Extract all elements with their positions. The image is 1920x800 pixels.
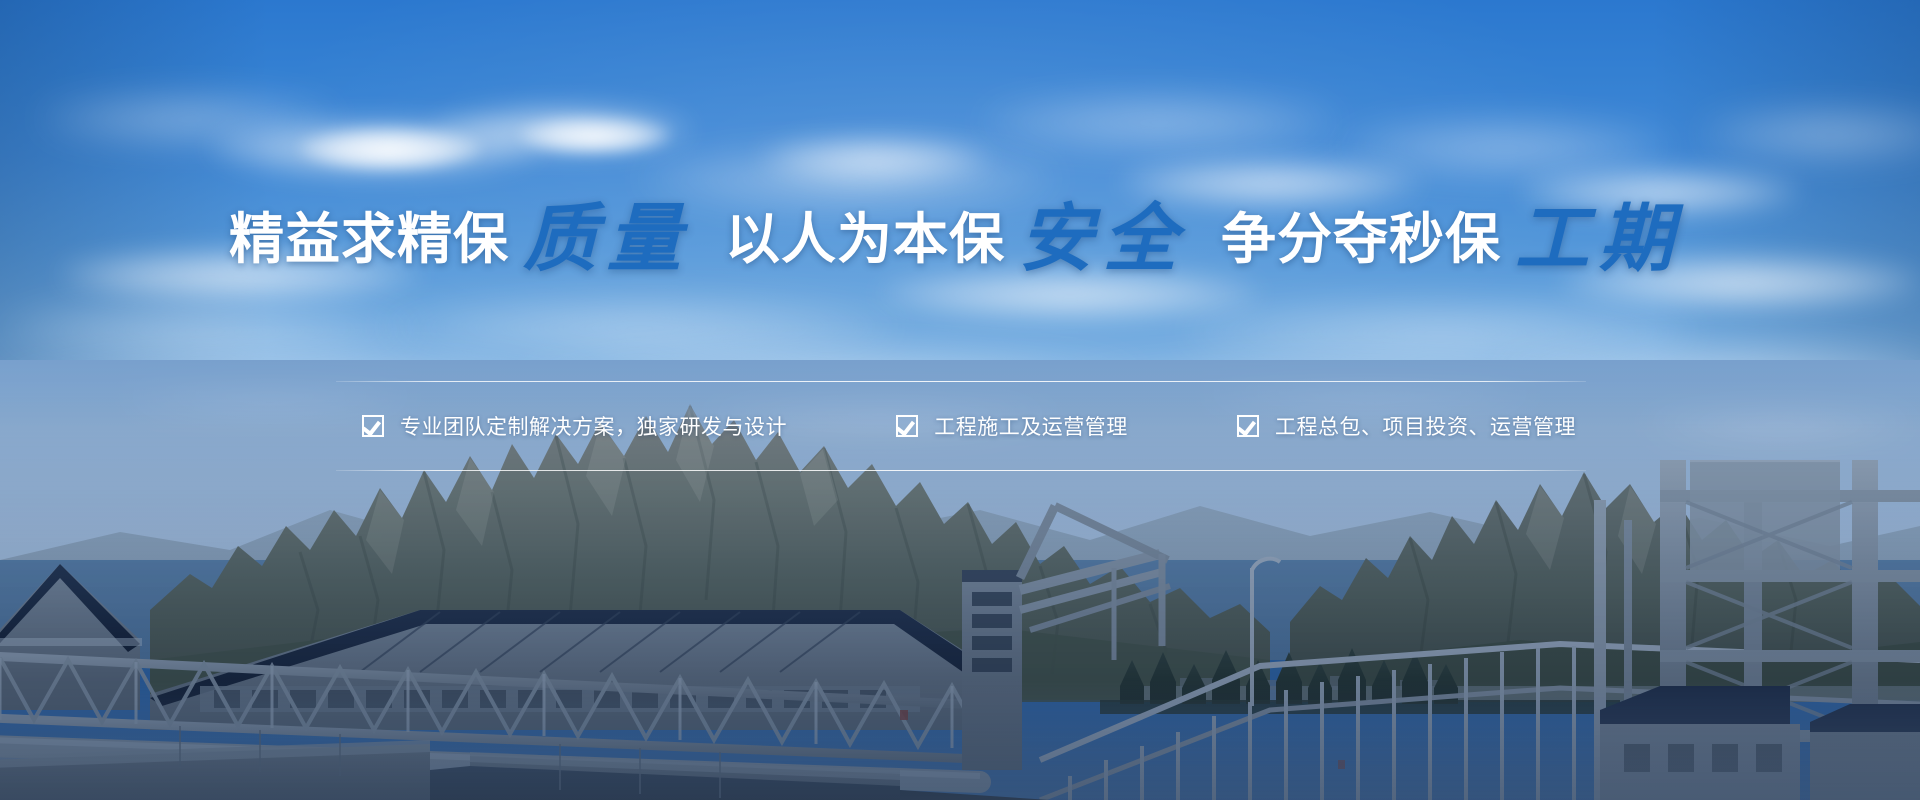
headline-segment-6-calligraphy: 工期 [1501, 196, 1691, 282]
feature-strip: 专业团队定制解决方案，独家研发与设计 工程施工及运营管理 工程总包、项目投资、运… [336, 381, 1586, 471]
feature-item-2: 工程施工及运营管理 [896, 411, 1128, 441]
checkbox-checked-icon [362, 415, 384, 437]
headline: 精益求精保质量以人为本保安全争分夺秒保工期 [0, 196, 1920, 270]
feature-item-3-label: 工程总包、项目投资、运营管理 [1275, 411, 1576, 441]
scene-haze [0, 680, 1920, 800]
feature-item-3: 工程总包、项目投资、运营管理 [1237, 411, 1576, 441]
checkbox-checked-icon [896, 415, 918, 437]
headline-segment-3: 以人为本保 [725, 208, 1005, 270]
feature-item-1-label: 专业团队定制解决方案，独家研发与设计 [400, 411, 787, 441]
feature-list: 专业团队定制解决方案，独家研发与设计 工程施工及运营管理 工程总包、项目投资、运… [336, 382, 1586, 470]
checkbox-checked-icon [1237, 415, 1259, 437]
hero-banner: 精益求精保质量以人为本保安全争分夺秒保工期 专业团队定制解决方案，独家研发与设计… [0, 0, 1920, 800]
headline-segment-1: 精益求精保 [229, 208, 509, 270]
headline-segment-4-calligraphy: 安全 [1005, 196, 1195, 282]
headline-segment-5: 争分夺秒保 [1221, 208, 1501, 270]
headline-segment-2-calligraphy: 质量 [509, 196, 699, 282]
divider-bottom [336, 470, 1586, 471]
feature-item-2-label: 工程施工及运营管理 [934, 411, 1128, 441]
feature-item-1: 专业团队定制解决方案，独家研发与设计 [362, 411, 787, 441]
